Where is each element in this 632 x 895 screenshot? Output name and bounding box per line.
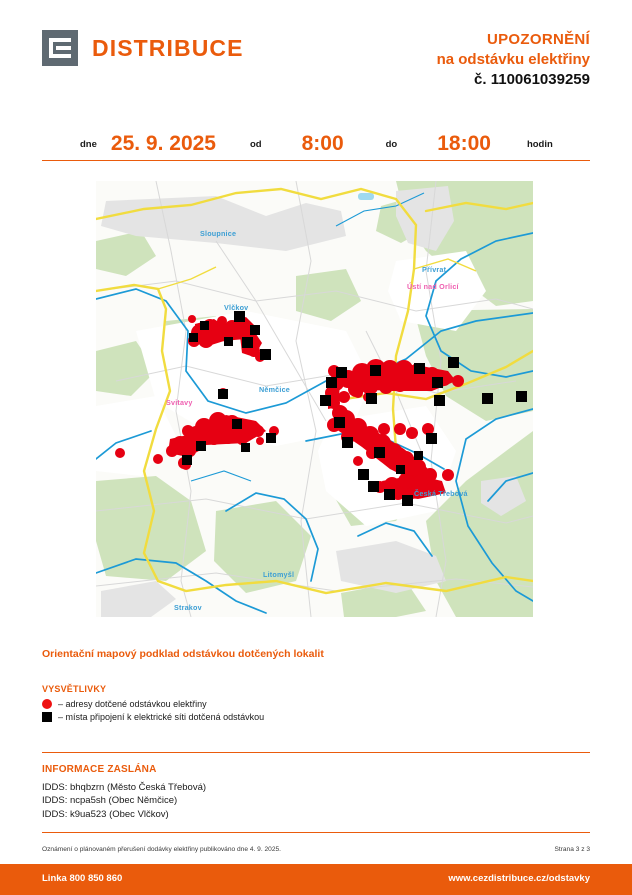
notice-number: č. 110061039259 — [437, 70, 590, 90]
label-to: do — [386, 139, 398, 150]
legend-item-addresses: – adresy dotčené odstávkou elektřiny — [42, 699, 207, 709]
outage-time-to: 18:00 — [437, 132, 491, 156]
map-caption: Orientační mapový podklad odstávkou dotč… — [42, 648, 324, 660]
map-label-litomysl: Litomyšl — [263, 570, 294, 579]
footer-divider — [42, 832, 590, 833]
list-item: IDDS: ncpa5sh (Obec Němčice) — [42, 794, 206, 807]
map-label-nemcice: Němčice — [259, 385, 290, 394]
legend-item-label: – místa připojení k elektrické síti dotč… — [58, 712, 264, 722]
outage-date: 25. 9. 2025 — [111, 132, 216, 156]
map-label-vlckov: Vlčkov — [224, 303, 248, 312]
label-hours: hodin — [527, 139, 553, 150]
info-title: INFORMACE ZASLÁNA — [42, 764, 157, 775]
cez-e-logo-icon — [42, 30, 78, 66]
legend-item-label: – adresy dotčené odstávkou elektřiny — [58, 699, 207, 709]
red-circle-icon — [42, 699, 52, 709]
legend-title: VYSVĚTLIVKY — [42, 684, 106, 694]
footer-bar: Linka 800 850 860 www.cezdistribuce.cz/o… — [0, 864, 632, 895]
document-page: DISTRIBUCE UPOZORNĚNÍ na odstávku elektř… — [0, 0, 632, 895]
notice-heading: UPOZORNĚNÍ na odstávku elektřiny č. 1100… — [437, 30, 590, 89]
black-square-icon — [42, 712, 52, 722]
outage-map[interactable]: Sloupnice Přívrat Ústí nad Orlicí Vlčkov… — [96, 181, 533, 617]
outage-time-from: 8:00 — [302, 132, 344, 156]
info-recipients-list: IDDS: bhqbzrn (Město Česká Třebová) IDDS… — [42, 781, 206, 821]
notice-subtitle: na odstávku elektřiny — [437, 50, 590, 70]
list-item: IDDS: bhqbzrn (Město Česká Třebová) — [42, 781, 206, 794]
legend-item-connections: – místa připojení k elektrické síti dotč… — [42, 712, 264, 722]
label-from: od — [250, 139, 262, 150]
map-label-privrat: Přívrat — [422, 265, 446, 274]
label-date: dne — [80, 139, 97, 150]
outage-datetime-bar: dne 25. 9. 2025 od 8:00 do 18:00 hodin — [42, 128, 590, 161]
publication-note: Oznámení o plánovaném přerušení dodávky … — [42, 846, 281, 853]
brand-name: DISTRIBUCE — [92, 35, 244, 62]
map-label-usti-nad-orlici: Ústí nad Orlicí — [407, 282, 459, 291]
list-item: IDDS: k9ua523 (Obec Vlčkov) — [42, 808, 206, 821]
brand-logo: DISTRIBUCE — [42, 30, 244, 66]
map-graphic — [96, 181, 533, 617]
map-label-svitavy: Svitavy — [166, 398, 193, 407]
page-number: Strana 3 z 3 — [554, 846, 590, 853]
map-label-strakov: Strakov — [174, 603, 202, 612]
map-label-sloupnice: Sloupnice — [200, 229, 236, 238]
section-divider — [42, 752, 590, 753]
contact-website[interactable]: www.cezdistribuce.cz/odstavky — [448, 873, 590, 884]
map-label-ceska-trebova: Česká Třebová — [414, 489, 468, 498]
notice-title: UPOZORNĚNÍ — [437, 30, 590, 50]
page-header: DISTRIBUCE UPOZORNĚNÍ na odstávku elektř… — [0, 0, 632, 118]
contact-phone: Linka 800 850 860 — [42, 873, 122, 884]
